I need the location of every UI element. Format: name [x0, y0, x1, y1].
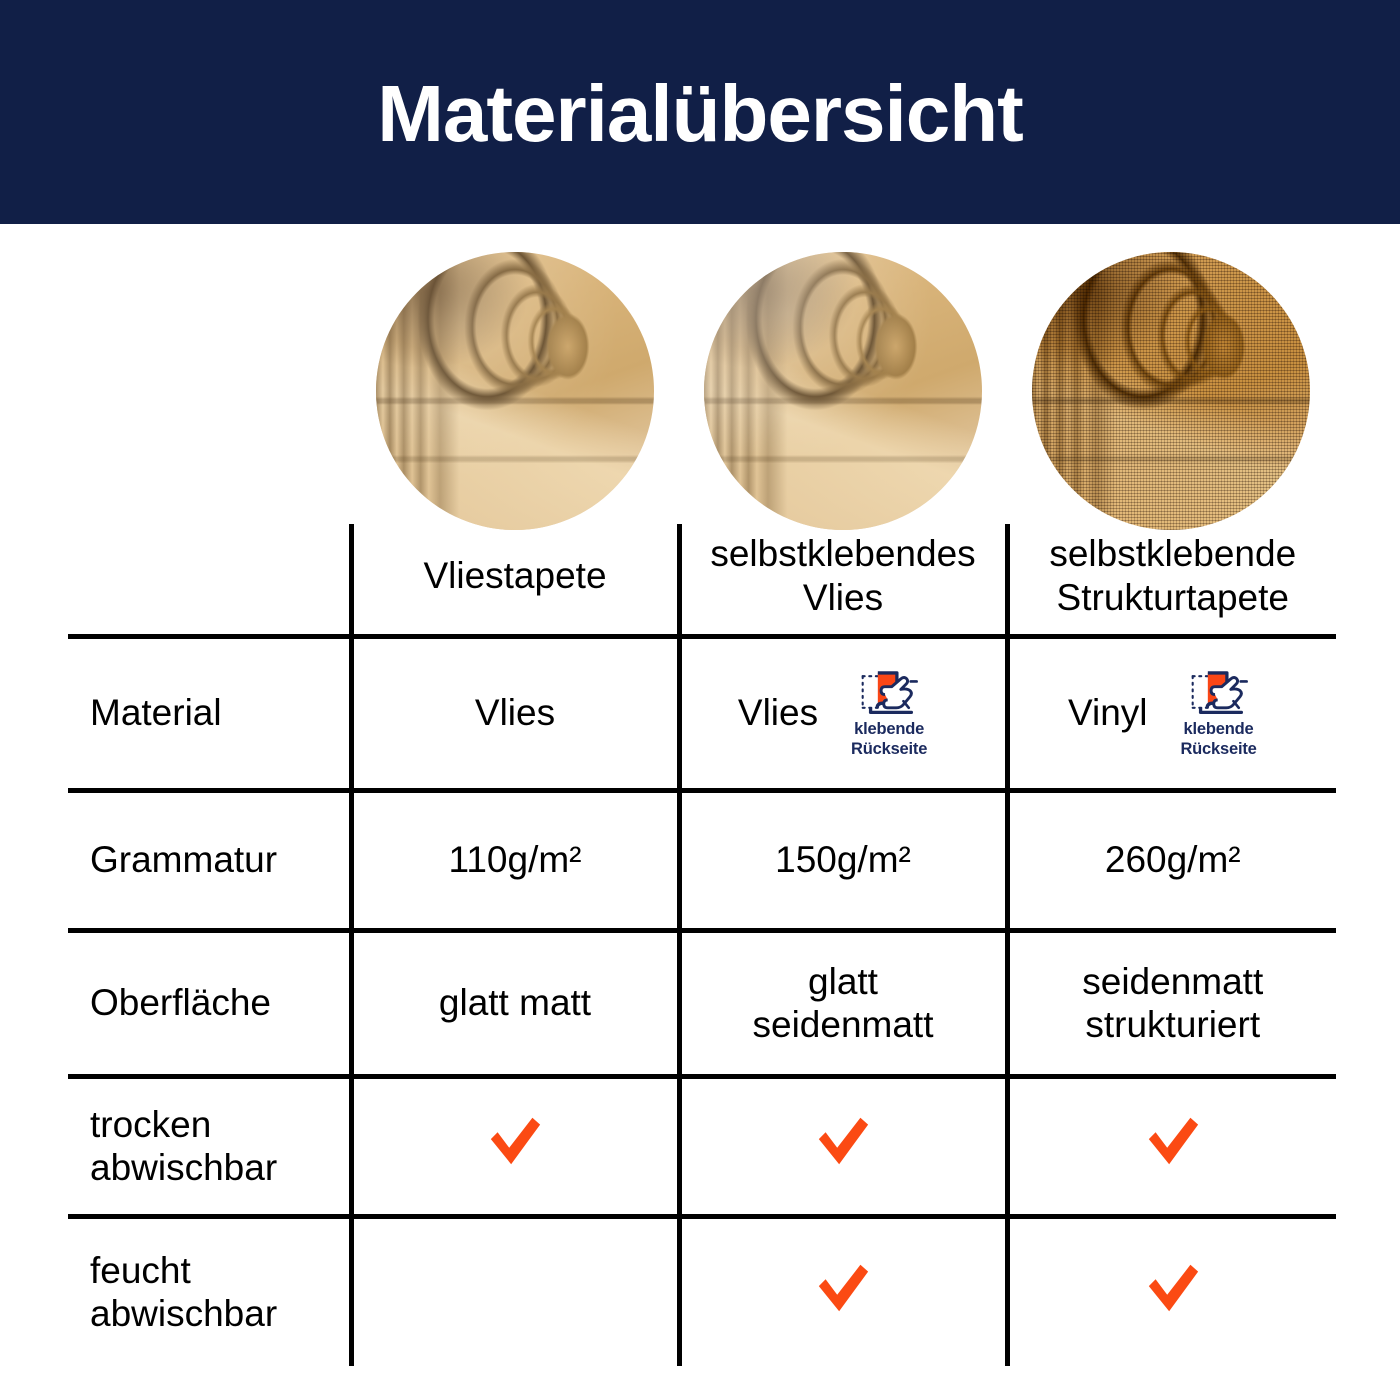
cell-value: 150g/m²	[775, 839, 911, 880]
row-label-oberflaeche: Oberfläche	[68, 930, 351, 1076]
column-header-line: Vlies	[803, 577, 883, 618]
cell-material-selbstklebende-strukturtapete: Vinyl	[1007, 636, 1336, 790]
cell-value: Vlies	[475, 692, 555, 733]
checkmark-icon	[812, 1112, 874, 1170]
cell-trocken-selbstklebende-strukturtapete	[1007, 1076, 1336, 1216]
column-header-vliestapete: Vliestapete	[351, 524, 679, 636]
column-header-selbstklebende-strukturtapete: selbstklebende Strukturtapete	[1007, 524, 1336, 636]
table-header-row: Vliestapete selbstklebendes Vlies selbst…	[68, 524, 1336, 636]
swatch-finish-overlay	[1032, 252, 1310, 530]
row-label-line: trocken	[90, 1104, 211, 1145]
cell-oberflaeche-selbstklebende-strukturtapete: seidenmatt strukturiert	[1007, 930, 1336, 1076]
swatch-cell-3	[1007, 252, 1335, 552]
column-header-line: selbstklebende	[1049, 533, 1296, 574]
badge-line-2: Rückseite	[1180, 740, 1256, 758]
swatch-finish-overlay	[704, 252, 982, 530]
checkmark-icon	[484, 1112, 546, 1170]
cell-empty	[360, 1292, 671, 1293]
cell-trocken-selbstklebendes-vlies	[679, 1076, 1007, 1216]
row-label-line: abwischbar	[90, 1147, 277, 1188]
cell-value-line: seidenmatt	[1082, 961, 1263, 1002]
table-corner-cell	[68, 524, 351, 636]
swatch-cell-1	[351, 252, 679, 552]
row-label-feucht-abwischbar: feucht abwischbar	[68, 1216, 351, 1366]
cell-value-line: strukturiert	[1085, 1004, 1260, 1045]
row-label-trocken-abwischbar: trocken abwischbar	[68, 1076, 351, 1216]
column-header-line: Vliestapete	[423, 555, 606, 596]
table-row-oberflaeche: Oberfläche glatt matt glatt seidenmatt s…	[68, 930, 1336, 1076]
cell-feucht-vliestapete	[351, 1216, 679, 1366]
table-row-material: Material Vlies Vlies	[68, 636, 1336, 790]
swatch-cell-2	[679, 252, 1007, 552]
header-banner: Materialübersicht	[0, 0, 1400, 224]
badge-line-1: klebende	[854, 720, 924, 738]
row-label-grammatur: Grammatur	[68, 790, 351, 930]
page-title: Materialübersicht	[377, 74, 1022, 154]
table-row-grammatur: Grammatur 110g/m² 150g/m² 260g/m²	[68, 790, 1336, 930]
cell-value: Vlies	[738, 691, 818, 734]
row-label-line: abwischbar	[90, 1293, 277, 1334]
cell-oberflaeche-selbstklebendes-vlies: glatt seidenmatt	[679, 930, 1007, 1076]
swatch-row	[351, 252, 1335, 552]
cell-value: 110g/m²	[449, 839, 582, 880]
cell-value-line: glatt matt	[439, 982, 591, 1023]
table-row-trocken-abwischbar: trocken abwischbar	[68, 1076, 1336, 1216]
badge-line-2: Rückseite	[851, 740, 927, 758]
cell-value: Vinyl	[1068, 691, 1148, 734]
cell-oberflaeche-vliestapete: glatt matt	[351, 930, 679, 1076]
checkmark-icon	[1142, 1112, 1204, 1170]
column-header-selbstklebendes-vlies: selbstklebendes Vlies	[679, 524, 1007, 636]
peel-adhesive-back-icon	[1186, 667, 1252, 717]
checkmark-icon	[1142, 1259, 1204, 1317]
material-table: Vliestapete selbstklebendes Vlies selbst…	[68, 524, 1336, 1366]
column-header-line: selbstklebendes	[710, 533, 975, 574]
swatch-selbstklebendes-vlies	[704, 252, 982, 530]
cell-material-selbstklebendes-vlies: Vlies	[679, 636, 1007, 790]
swatch-finish-overlay	[376, 252, 654, 530]
adhesive-back-badge-label: klebende Rückseite	[1180, 720, 1256, 758]
cell-feucht-selbstklebendes-vlies	[679, 1216, 1007, 1366]
adhesive-back-badge: klebende Rückseite	[830, 667, 948, 758]
cell-value-line: glatt	[808, 961, 878, 1002]
column-header-line: Strukturtapete	[1057, 577, 1289, 618]
row-label-material: Material	[68, 636, 351, 790]
material-comparison: Vliestapete selbstklebendes Vlies selbst…	[0, 224, 1400, 1400]
adhesive-back-badge-label: klebende Rückseite	[851, 720, 927, 758]
row-label-line: feucht	[90, 1250, 191, 1291]
cell-value-line: seidenmatt	[753, 1004, 934, 1045]
cell-grammatur-selbstklebendes-vlies: 150g/m²	[679, 790, 1007, 930]
cell-grammatur-selbstklebende-strukturtapete: 260g/m²	[1007, 790, 1336, 930]
cell-value: 260g/m²	[1105, 839, 1241, 880]
checkmark-icon	[812, 1259, 874, 1317]
cell-grammatur-vliestapete: 110g/m²	[351, 790, 679, 930]
cell-feucht-selbstklebende-strukturtapete	[1007, 1216, 1336, 1366]
swatch-selbstklebende-strukturtapete	[1032, 252, 1310, 530]
peel-adhesive-back-icon	[856, 667, 922, 717]
table-row-feucht-abwischbar: feucht abwischbar	[68, 1216, 1336, 1366]
cell-material-vliestapete: Vlies	[351, 636, 679, 790]
cell-trocken-vliestapete	[351, 1076, 679, 1216]
swatch-vliestapete	[376, 252, 654, 530]
badge-line-1: klebende	[1184, 720, 1254, 738]
adhesive-back-badge: klebende Rückseite	[1160, 667, 1278, 758]
